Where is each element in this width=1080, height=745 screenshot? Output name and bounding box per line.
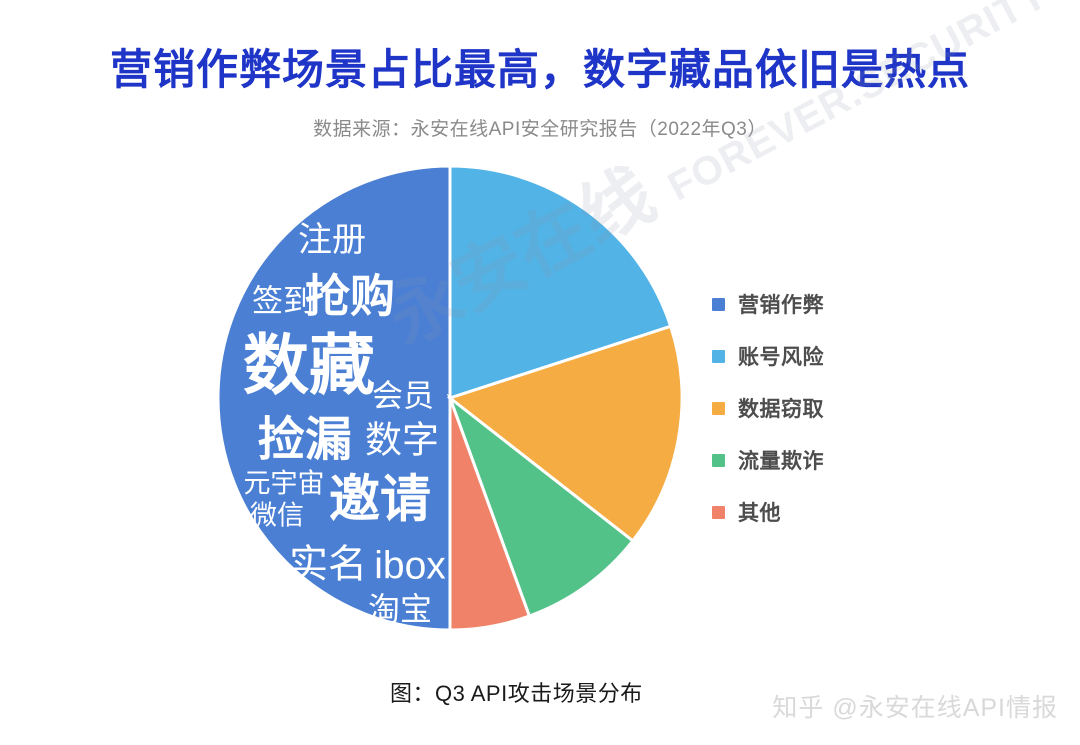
legend-item[interactable]: 账号风险 [712, 330, 824, 382]
watermark-footer: 知乎 @永安在线API情报 [772, 688, 1058, 724]
pie-slice-group [218, 166, 682, 630]
legend-item-label: 数据窃取 [738, 393, 824, 423]
legend-swatch-icon [712, 350, 725, 363]
legend-item[interactable]: 其他 [712, 486, 824, 538]
legend-swatch-icon [712, 402, 725, 415]
legend-swatch-icon [712, 506, 725, 519]
legend-item-label: 账号风险 [738, 341, 824, 371]
legend-item[interactable]: 流量欺诈 [712, 434, 824, 486]
legend-swatch-icon [712, 298, 725, 311]
legend-item-label: 其他 [738, 497, 781, 527]
infographic-root: 营销作弊场景占比最高，数字藏品依旧是热点 数据来源：永安在线API安全研究报告（… [0, 0, 1080, 745]
chart-legend: 营销作弊账号风险数据窃取流量欺诈其他 [712, 278, 824, 538]
legend-item[interactable]: 营销作弊 [712, 278, 824, 330]
legend-item[interactable]: 数据窃取 [712, 382, 824, 434]
pie-chart [0, 0, 1080, 745]
chart-caption: 图：Q3 API攻击场景分布 [390, 676, 643, 708]
legend-item-label: 流量欺诈 [738, 445, 824, 475]
pie-chart-svg [0, 0, 1080, 745]
legend-item-label: 营销作弊 [738, 289, 824, 319]
legend-swatch-icon [712, 454, 725, 467]
pie-slice[interactable] [218, 166, 450, 630]
